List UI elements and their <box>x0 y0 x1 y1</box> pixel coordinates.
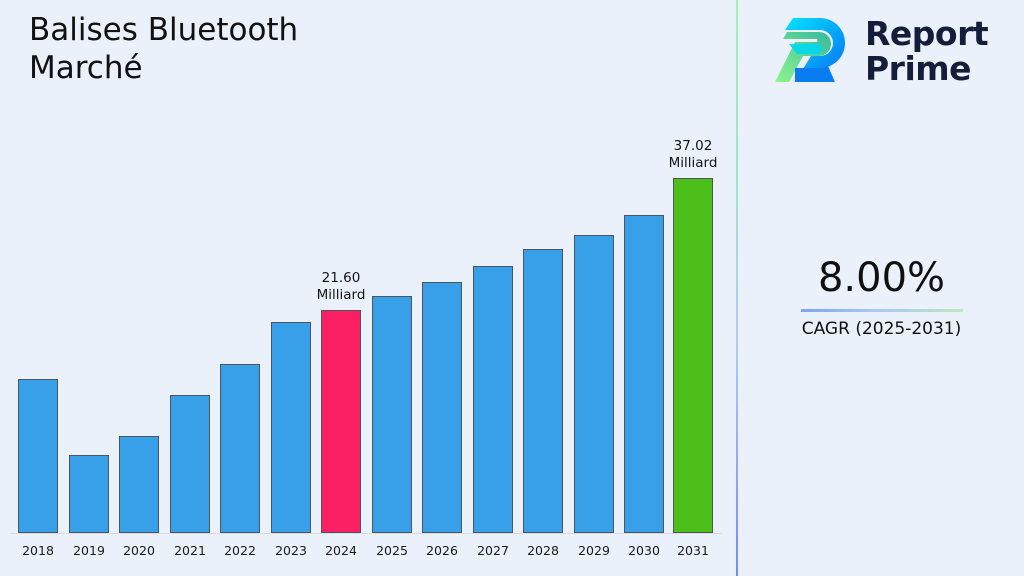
chart-screenshot: Balises Bluetooth Marché 21.60 Milliard3… <box>0 0 1024 576</box>
page-title: Balises Bluetooth Marché <box>29 11 449 87</box>
x-tick-2024: 2024 <box>316 543 366 558</box>
brand-logo: Report Prime <box>773 12 988 90</box>
x-tick-2031: 2031 <box>668 543 718 558</box>
x-tick-2028: 2028 <box>518 543 568 558</box>
bar-2029[interactable] <box>574 235 614 533</box>
bar-2024[interactable] <box>321 310 361 533</box>
x-tick-2023: 2023 <box>266 543 316 558</box>
bar-2028[interactable] <box>523 249 563 533</box>
x-tick-2025: 2025 <box>367 543 417 558</box>
x-axis-line <box>10 533 722 534</box>
panel-divider <box>736 0 738 576</box>
x-tick-2022: 2022 <box>215 543 265 558</box>
bar-value-label-2024: 21.60 Milliard <box>291 270 391 304</box>
bar-chart-plot-area: 21.60 Milliard37.02 Milliard <box>0 120 737 536</box>
bar-2022[interactable] <box>220 364 260 533</box>
x-tick-2027: 2027 <box>468 543 518 558</box>
cagr-value: 8.00% <box>739 255 1024 301</box>
cagr-divider-rule <box>801 309 963 312</box>
bar-2026[interactable] <box>422 282 462 533</box>
bar-2025[interactable] <box>372 296 412 533</box>
x-tick-2030: 2030 <box>619 543 669 558</box>
x-tick-2029: 2029 <box>569 543 619 558</box>
bar-2021[interactable] <box>170 395 210 533</box>
x-tick-2021: 2021 <box>165 543 215 558</box>
bar-2023[interactable] <box>271 322 311 533</box>
bar-2027[interactable] <box>473 266 513 533</box>
x-tick-2026: 2026 <box>417 543 467 558</box>
cagr-block: 8.00% CAGR (2025-2031) <box>739 255 1024 340</box>
bar-2020[interactable] <box>119 436 159 533</box>
bar-2019[interactable] <box>69 455 109 533</box>
report-prime-logo-icon <box>773 12 853 90</box>
x-tick-2019: 2019 <box>64 543 114 558</box>
bar-2030[interactable] <box>624 215 664 533</box>
cagr-caption: CAGR (2025-2031) <box>739 318 1024 340</box>
side-panel: Report Prime 8.00% CAGR (2025-2031) <box>739 0 1024 576</box>
x-tick-2018: 2018 <box>13 543 63 558</box>
bar-value-label-2031: 37.02 Milliard <box>643 138 743 172</box>
brand-name: Report Prime <box>865 16 988 86</box>
chart-panel: Balises Bluetooth Marché 21.60 Milliard3… <box>0 0 737 576</box>
x-tick-2020: 2020 <box>114 543 164 558</box>
bar-2018[interactable] <box>18 379 58 533</box>
bar-2031[interactable] <box>673 178 713 533</box>
